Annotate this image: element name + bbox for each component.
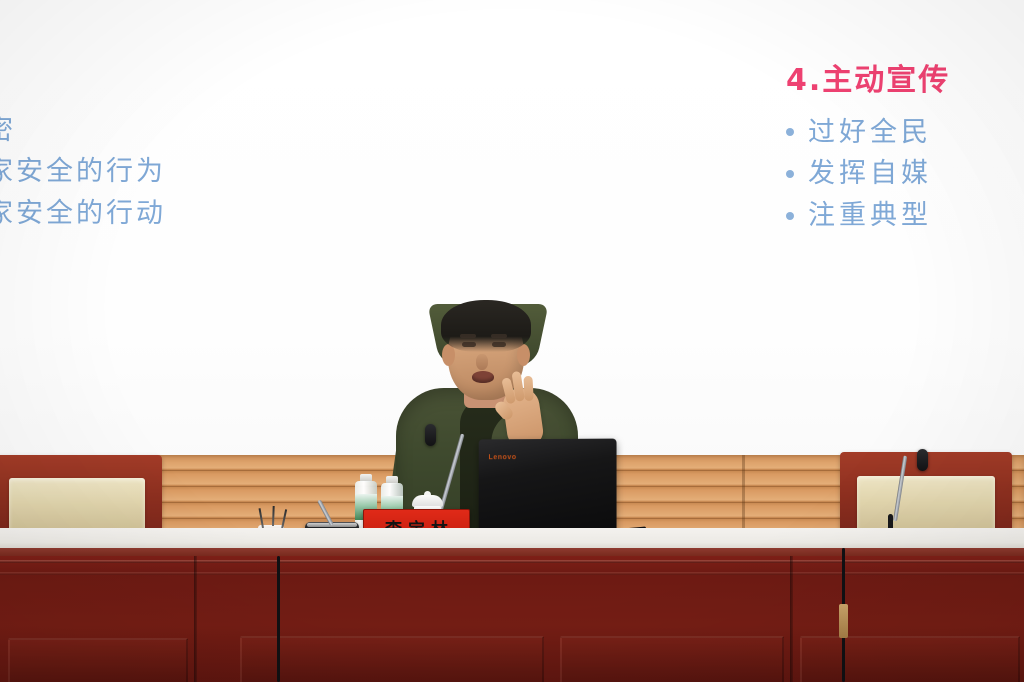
slide-right-bullet-3: 注重典型 bbox=[786, 195, 1024, 237]
front-panel-recess bbox=[240, 636, 544, 682]
lenovo-logo: Lenovo bbox=[489, 454, 517, 461]
slide-left-line-2: 害国家安全的行为 bbox=[0, 151, 406, 193]
cable-connector bbox=[839, 604, 848, 638]
eye-left bbox=[462, 342, 476, 347]
bullet-point-icon bbox=[786, 170, 794, 178]
table-front-paneling bbox=[0, 556, 1024, 682]
laptop-lid: Lenovo bbox=[479, 439, 617, 535]
front-panel-recess bbox=[800, 636, 1020, 682]
chair-cushion bbox=[9, 478, 145, 533]
eye-right bbox=[492, 342, 506, 347]
panel-highlight bbox=[0, 572, 1024, 575]
slide-text-right: 4.主动宣传 过好全民 发挥自媒 注重典型 bbox=[786, 62, 1024, 237]
bullet-point-icon bbox=[786, 212, 794, 220]
mic-speaker-head[interactable] bbox=[425, 424, 436, 446]
slide-right-bullet-1-label: 过好全民 bbox=[808, 112, 932, 154]
slide-left-line-3: 护国家安全的行动 bbox=[0, 193, 406, 235]
mic-right-head[interactable] bbox=[917, 449, 928, 471]
nose bbox=[476, 354, 488, 370]
eyebrow-left bbox=[460, 334, 476, 338]
chair-cushion bbox=[857, 476, 995, 533]
speaker-hair bbox=[441, 300, 531, 352]
bullet-point-icon bbox=[786, 128, 794, 136]
slide-right-bullet-3-label: 注重典型 bbox=[808, 195, 932, 237]
slide-left-title: 法规 bbox=[0, 62, 406, 100]
slide-right-bullet-1: 过好全民 bbox=[786, 112, 1024, 154]
hanging-cable bbox=[277, 556, 280, 682]
mouth-speaking bbox=[472, 371, 494, 383]
slide-left-line-1: 家机密 bbox=[0, 110, 406, 152]
slide-right-bullet-2: 发挥自媒 bbox=[786, 153, 1024, 195]
screenshot-root: 法规 家机密 害国家安全的行为 护国家安全的行动 4.主动宣传 过好全民 发挥自… bbox=[0, 0, 1024, 682]
slide-right-title: 4.主动宣传 bbox=[786, 62, 1024, 100]
slide-right-bullet-2-label: 发挥自媒 bbox=[808, 153, 932, 195]
wall-joint bbox=[742, 455, 745, 535]
front-panel-recess bbox=[560, 636, 784, 682]
panel-seam bbox=[790, 556, 793, 682]
eyebrow-right bbox=[491, 334, 507, 338]
panel-highlight bbox=[0, 560, 1024, 563]
finger bbox=[523, 376, 533, 401]
panel-seam bbox=[194, 556, 197, 682]
front-panel-recess bbox=[8, 638, 188, 682]
slide-text-left: 法规 家机密 害国家安全的行为 护国家安全的行动 bbox=[0, 62, 406, 235]
